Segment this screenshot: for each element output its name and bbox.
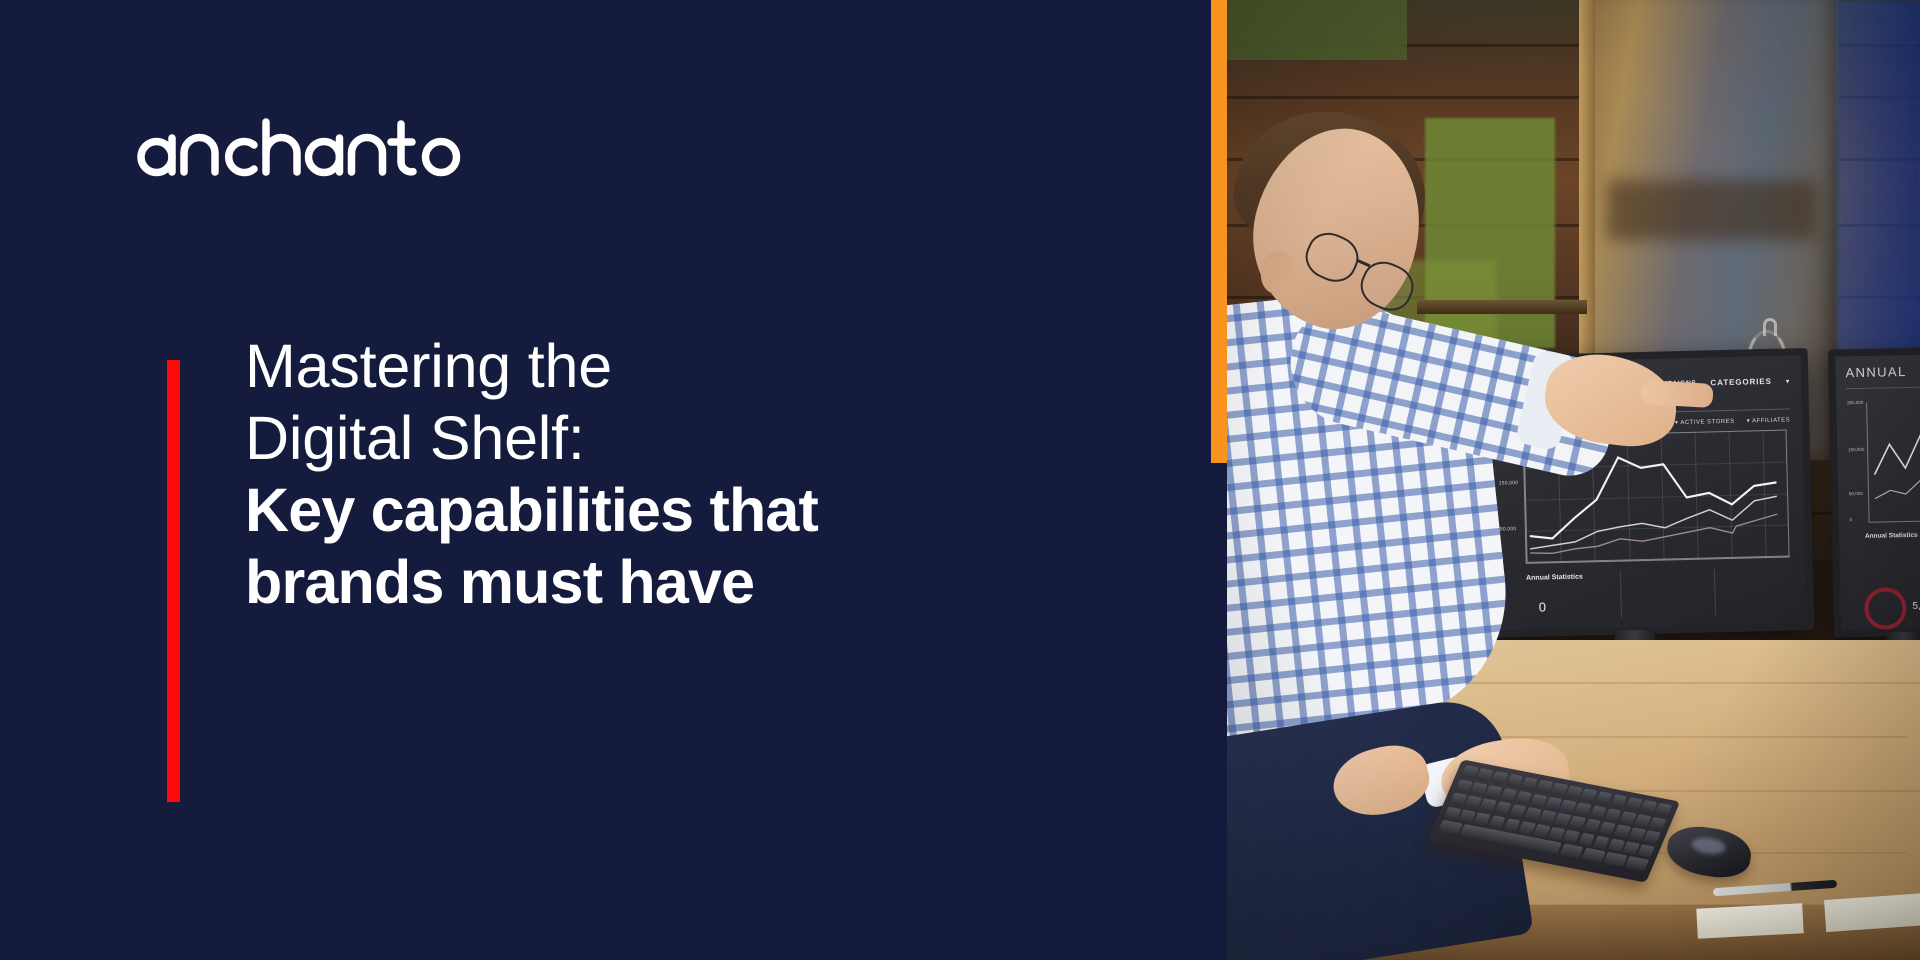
anchanto-logo[interactable] xyxy=(136,108,466,178)
cabinet-shadow xyxy=(1607,180,1817,240)
secondary-footer-value: 5,020 xyxy=(1912,600,1920,612)
green-wall-panel-top xyxy=(1227,0,1407,60)
hero-banner: Mastering the Digital Shelf: Key capabil… xyxy=(0,0,1920,960)
filter-affiliates-label: AFFILIATES xyxy=(1752,417,1790,424)
chevron-down-icon: ▾ xyxy=(1786,377,1790,385)
secondary-chart-lines xyxy=(1871,400,1920,522)
series-market xyxy=(1529,514,1778,554)
secondary-monitor: ANNUAL 250,000 150,000 50,000 0 Annual S… xyxy=(1828,346,1920,637)
hero-photo: ANNUAL 250,000 150,000 50,000 0 Annual S… xyxy=(1227,0,1920,960)
secondary-footer-label: Annual Statistics xyxy=(1865,531,1920,541)
orange-accent-stripe xyxy=(1211,0,1227,463)
dashboard-footer: Annual Statistics 0 xyxy=(1500,567,1795,626)
headline-block: Mastering the Digital Shelf: Key capabil… xyxy=(245,330,1005,618)
filter-affiliates[interactable]: ▾ AFFILIATES xyxy=(1747,416,1791,424)
caret-down-icon: ▾ xyxy=(1675,420,1679,426)
secondary-ytick-low: 50,000 xyxy=(1849,491,1863,496)
notepad-white xyxy=(1696,903,1803,939)
ytick-150000: 150,000 xyxy=(1499,480,1519,486)
secondary-screen-title: ANNUAL xyxy=(1845,363,1920,380)
secondary-ytick-mid: 150,000 xyxy=(1848,447,1864,452)
presenter-pointing-finger xyxy=(1640,380,1713,408)
anchanto-wordmark-icon xyxy=(136,108,466,178)
headline-line-1: Mastering the xyxy=(245,330,1005,402)
secondary-donut-chart xyxy=(1864,587,1907,630)
series-income xyxy=(1529,496,1778,549)
headline-line-4: brands must have xyxy=(245,546,1005,618)
ytick-50000: 50,000 xyxy=(1500,526,1517,532)
headline-line-3: Key capabilities that xyxy=(245,474,1005,546)
filter-active-stores-label: ACTIVE STORES xyxy=(1680,419,1735,426)
secondary-monitor-screen: ANNUAL 250,000 150,000 50,000 0 Annual S… xyxy=(1835,354,1920,631)
secondary-ytick-top: 250,000 xyxy=(1847,400,1863,405)
dashboard-filter-group: ▾ ACTIVE STORES ▾ AFFILIATES xyxy=(1675,416,1790,426)
secondary-ytick-zero: 0 xyxy=(1850,517,1853,522)
nav-categories[interactable]: CATEGORIES xyxy=(1710,378,1771,387)
secondary-chart: 250,000 150,000 50,000 0 xyxy=(1866,401,1920,523)
filter-active-stores[interactable]: ▾ ACTIVE STORES xyxy=(1675,418,1735,426)
red-accent-bar xyxy=(167,360,180,802)
caret-down-icon: ▾ xyxy=(1747,418,1751,424)
headline-line-2: Digital Shelf: xyxy=(245,402,1005,474)
left-content-panel: Mastering the Digital Shelf: Key capabil… xyxy=(0,0,1212,960)
annual-statistics-label: Annual Statistics xyxy=(1526,573,1583,583)
annual-statistics-value: 0 xyxy=(1539,599,1547,614)
